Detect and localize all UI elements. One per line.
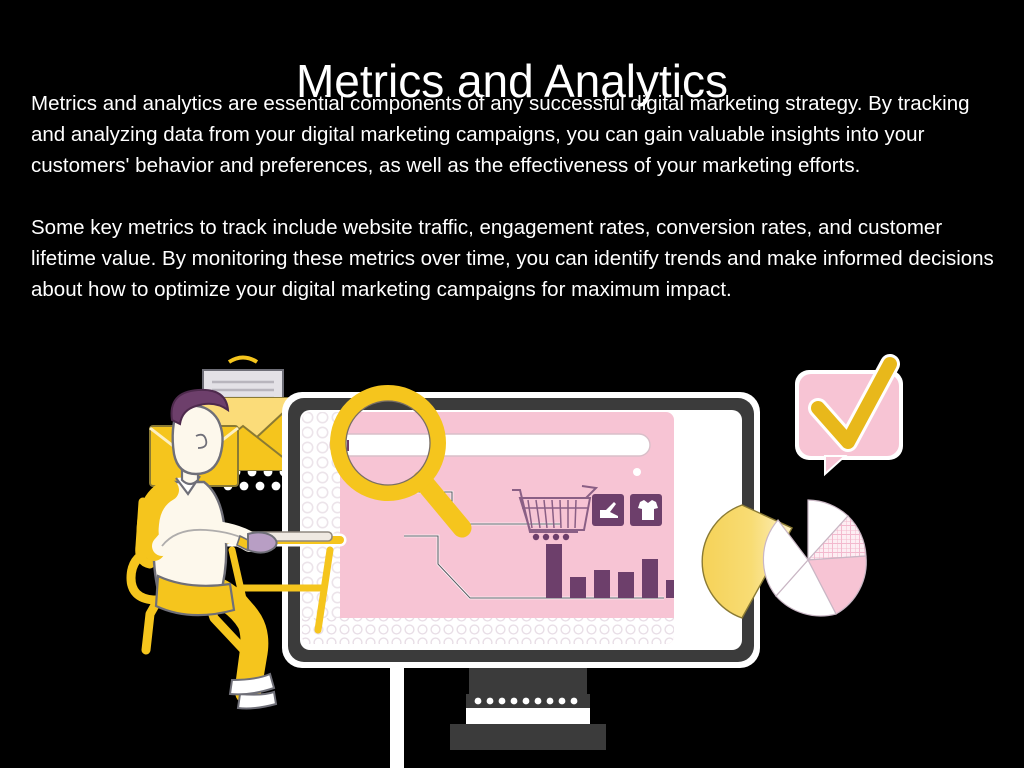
status-dot-indicator — [633, 468, 641, 476]
browser-window-mockup — [302, 412, 682, 644]
pie-chart — [702, 500, 866, 618]
mail-group — [150, 358, 299, 491]
search-bar[interactable] — [330, 434, 650, 456]
digital-marketing-analytics-illustration — [0, 350, 1024, 768]
paragraph-1: Metrics and analytics are essential comp… — [31, 88, 999, 181]
tshirt-product-icon[interactable] — [630, 494, 662, 526]
shoe-product-icon[interactable] — [592, 494, 624, 526]
computer-monitor — [282, 392, 760, 768]
monitor-stand — [390, 668, 606, 768]
paragraph-2: Some key metrics to track include websit… — [31, 212, 999, 305]
slide-canvas: Metrics and Analytics Metrics and analyt… — [0, 0, 1024, 768]
pie-body — [763, 500, 866, 616]
body-copy: Metrics and analytics are essential comp… — [31, 88, 999, 305]
check-speech-bubble — [795, 364, 903, 474]
